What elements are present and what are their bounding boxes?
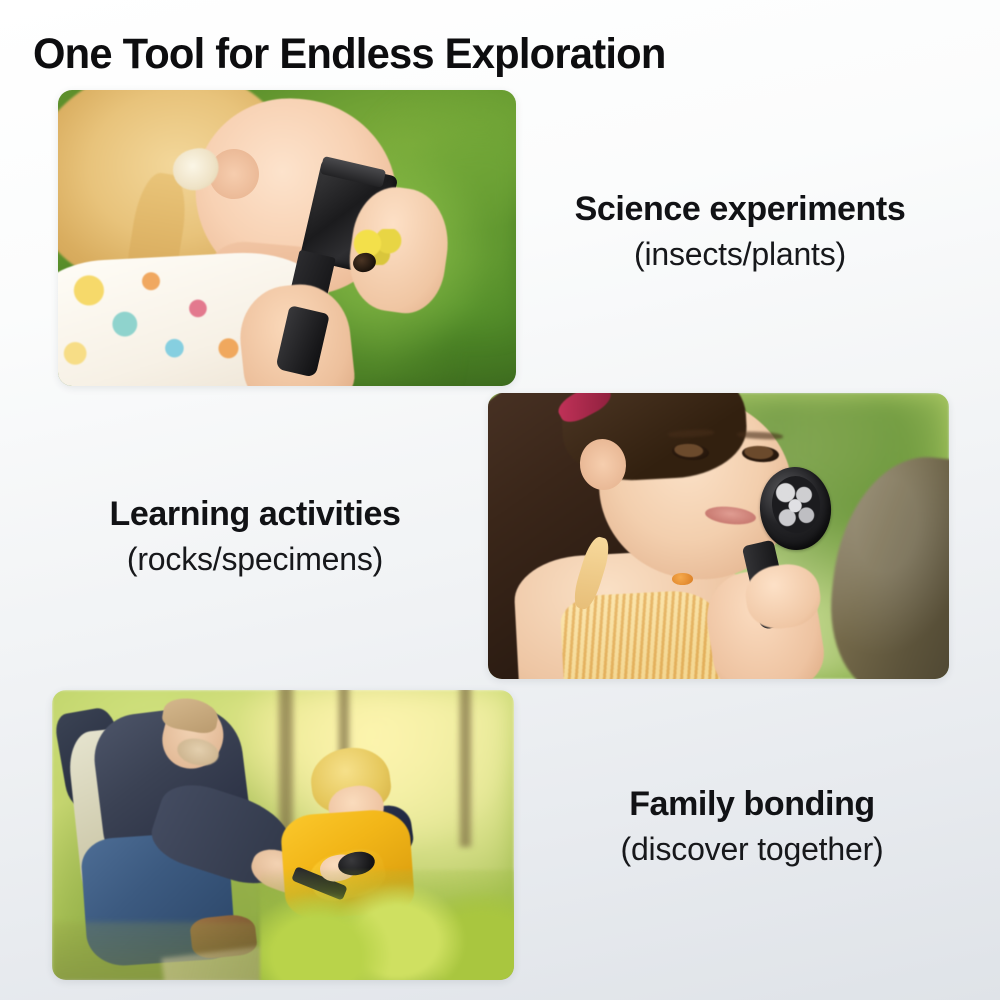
photo-scene-father-and-son-in-forest <box>52 690 514 980</box>
feature-subtitle-family: (discover together) <box>552 830 952 868</box>
ferns <box>260 870 514 980</box>
feature-subtitle-learning: (rocks/specimens) <box>55 540 455 578</box>
tree-trunk-3 <box>459 690 473 847</box>
feature-title-learning: Learning activities <box>55 495 455 533</box>
feature-caption-learning: Learning activities (rocks/specimens) <box>55 495 455 578</box>
feature-caption-science: Science experiments (insects/plants) <box>525 190 955 273</box>
orange-bead <box>672 573 693 584</box>
feature-title-science: Science experiments <box>525 190 955 228</box>
feature-photo-science <box>58 90 516 386</box>
page-title: One Tool for Endless Exploration <box>33 30 666 79</box>
feature-photo-family <box>52 690 514 980</box>
photo-scene-girl-with-magnifier <box>58 90 516 386</box>
feature-subtitle-science: (insects/plants) <box>525 235 955 273</box>
feature-title-family: Family bonding <box>552 785 952 823</box>
photo-scene-girl-examining-tree <box>488 393 949 679</box>
feature-photo-learning <box>488 393 949 679</box>
feature-caption-family: Family bonding (discover together) <box>552 785 952 868</box>
